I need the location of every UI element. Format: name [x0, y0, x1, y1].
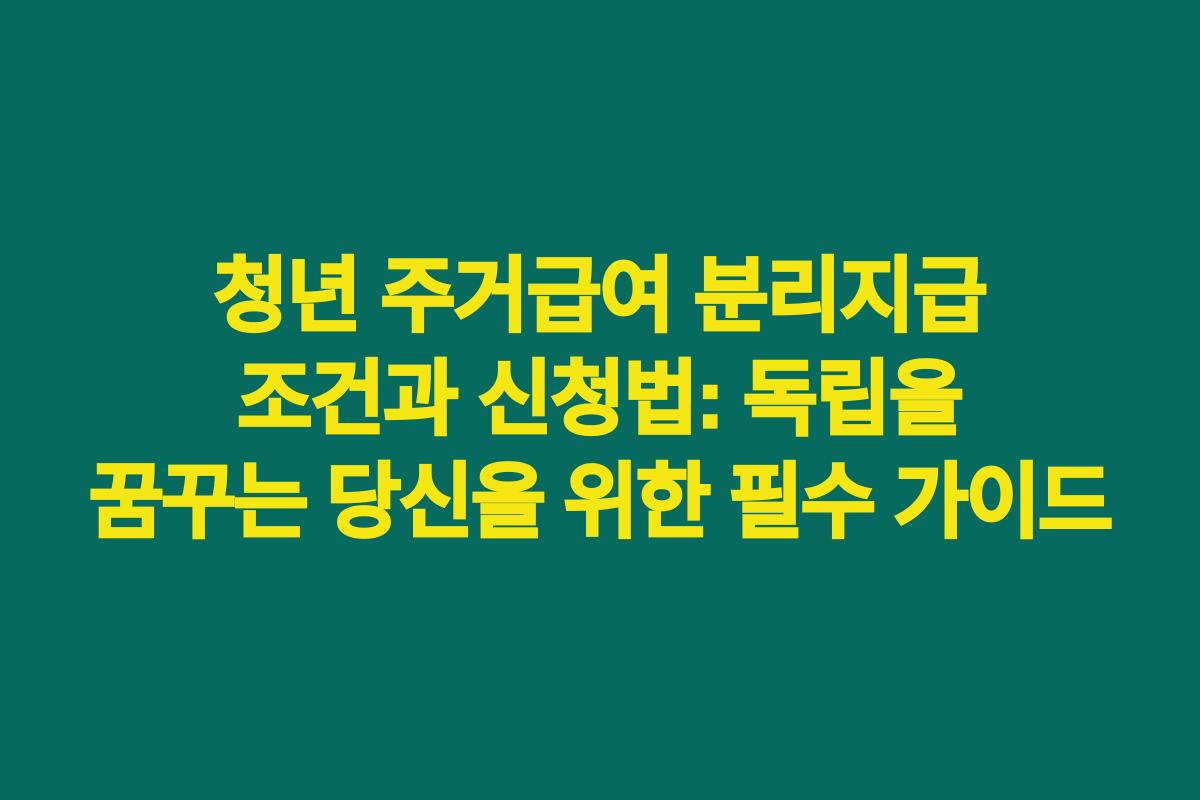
poster-canvas: 청년 주거급여 분리지급 조건과 신청법: 독립을 꿈꾸는 당신을 위한 필수 …	[0, 0, 1200, 800]
headline-block: 청년 주거급여 분리지급 조건과 신청법: 독립을 꿈꾸는 당신을 위한 필수 …	[0, 246, 1200, 555]
headline-line-3: 꿈꾸는 당신을 위한 필수 가이드	[14, 452, 1186, 555]
headline-line-1: 청년 주거급여 분리지급	[14, 246, 1186, 349]
headline-line-2: 조건과 신청법: 독립을	[14, 349, 1186, 452]
